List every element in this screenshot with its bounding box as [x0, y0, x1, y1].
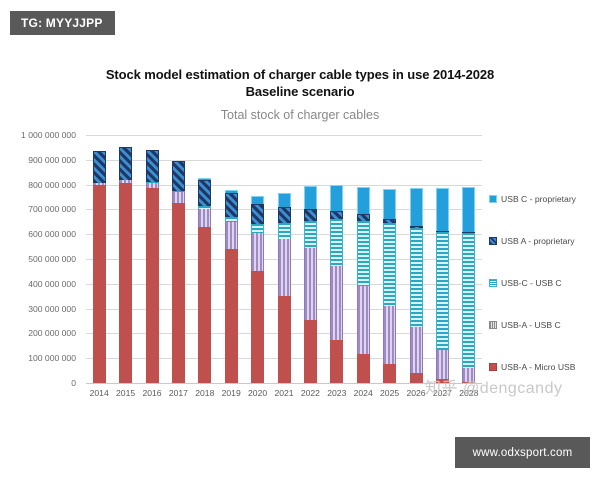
y-axis-tick-label: 0	[0, 378, 76, 388]
bar-segment[interactable]	[119, 183, 132, 383]
legend-item-4[interactable]: USB-A - Micro USB	[489, 361, 597, 372]
y-axis-tick-label: 600 000 000	[0, 229, 76, 239]
y-axis-tick-label: 900 000 000	[0, 155, 76, 165]
y-axis-tick-label: 800 000 000	[0, 180, 76, 190]
bar-segment[interactable]	[357, 221, 370, 287]
y-axis-tick-label: 100 000 000	[0, 353, 76, 363]
bar-segment[interactable]	[436, 232, 449, 350]
bar-segment[interactable]	[330, 211, 343, 220]
y-axis-tick-label: 300 000 000	[0, 304, 76, 314]
bar-segment[interactable]	[278, 239, 291, 296]
y-axis-tick-label: 400 000 000	[0, 279, 76, 289]
bar-segment[interactable]	[172, 161, 185, 191]
x-axis-tick-label: 2023	[327, 388, 346, 398]
bar-segment[interactable]	[119, 147, 132, 180]
bar-segment[interactable]	[410, 226, 423, 228]
bar-segment[interactable]	[383, 223, 396, 306]
bar-segment[interactable]	[172, 203, 185, 383]
legend-swatch-icon	[489, 237, 497, 245]
bar-segment[interactable]	[383, 219, 396, 223]
bar-segment[interactable]	[330, 185, 343, 211]
legend-item-2[interactable]: USB-C - USB C	[489, 277, 597, 288]
bar-segment[interactable]	[383, 306, 396, 364]
legend-swatch-icon	[489, 321, 497, 329]
y-axis-tick-label: 1 000 000 000	[0, 130, 76, 140]
bar-segment[interactable]	[304, 209, 317, 221]
bar-segment[interactable]	[410, 228, 423, 327]
bar-segment[interactable]	[278, 193, 291, 208]
bar-segment[interactable]	[462, 382, 475, 383]
bar-segment[interactable]	[330, 219, 343, 266]
legend-item-1[interactable]: USB A - proprietary	[489, 235, 597, 246]
bar-segment[interactable]	[330, 340, 343, 383]
bar-segment[interactable]	[330, 266, 343, 339]
bar-segment[interactable]	[436, 350, 449, 379]
bar-segment[interactable]	[304, 221, 317, 248]
bar-segment[interactable]	[93, 183, 106, 185]
x-axis-tick-label: 2014	[90, 388, 109, 398]
x-axis-tick-label: 2021	[274, 388, 293, 398]
bar-segment[interactable]	[410, 188, 423, 225]
y-axis-tick-label: 200 000 000	[0, 328, 76, 338]
x-axis-tick-label: 2018	[195, 388, 214, 398]
x-axis-tick-label: 2016	[142, 388, 161, 398]
legend-label: USB-A - Micro USB	[501, 362, 576, 372]
bar-segment[interactable]	[93, 151, 106, 182]
site-url-badge: www.odxsport.com	[455, 437, 590, 468]
bar-segment[interactable]	[410, 373, 423, 383]
legend-item-0[interactable]: USB C - proprietary	[489, 193, 597, 204]
bar-segment[interactable]	[462, 233, 475, 368]
bar-segment[interactable]	[304, 186, 317, 209]
x-axis-tick-label: 2015	[116, 388, 135, 398]
bar-segment[interactable]	[383, 364, 396, 383]
bar-segment[interactable]	[436, 379, 449, 383]
bar-segment[interactable]	[198, 206, 211, 208]
y-axis-tick-label: 700 000 000	[0, 204, 76, 214]
x-axis-tick-label: 2020	[248, 388, 267, 398]
bar-segment[interactable]	[251, 224, 264, 233]
bar-segment[interactable]	[251, 204, 264, 224]
bar-segment[interactable]	[357, 214, 370, 220]
bar-segment[interactable]	[304, 320, 317, 383]
gridline	[86, 135, 482, 136]
x-axis-tick-label: 2028	[459, 388, 478, 398]
gridline	[86, 383, 482, 384]
legend-item-3[interactable]: USB-A - USB C	[489, 319, 597, 330]
bar-segment[interactable]	[146, 150, 159, 182]
legend-label: USB A - proprietary	[501, 236, 575, 246]
bar-segment[interactable]	[383, 189, 396, 219]
x-axis-tick-label: 2027	[433, 388, 452, 398]
x-axis-tick-label: 2025	[380, 388, 399, 398]
legend-label: USB-A - USB C	[501, 320, 561, 330]
legend-swatch-icon	[489, 363, 497, 371]
legend-swatch-icon	[489, 195, 497, 203]
bar-segment[interactable]	[172, 192, 185, 203]
bar-segment[interactable]	[251, 196, 264, 205]
legend-label: USB C - proprietary	[501, 194, 576, 204]
x-axis-tick-label: 2019	[222, 388, 241, 398]
bar-segment[interactable]	[198, 180, 211, 207]
chart-legend: USB C - proprietaryUSB A - proprietaryUS…	[489, 193, 597, 403]
bar-segment[interactable]	[198, 227, 211, 383]
bar-segment[interactable]	[278, 296, 291, 383]
y-axis-tick-label: 500 000 000	[0, 254, 76, 264]
x-axis-tick-label: 2022	[301, 388, 320, 398]
bar-segment[interactable]	[357, 354, 370, 383]
bar-segment[interactable]	[278, 223, 291, 239]
bar-segment[interactable]	[251, 271, 264, 383]
legend-label: USB-C - USB C	[501, 278, 562, 288]
bar-segment[interactable]	[146, 183, 159, 188]
bar-segment[interactable]	[225, 249, 238, 383]
bar-segment[interactable]	[357, 187, 370, 215]
bar-segment[interactable]	[304, 248, 317, 320]
bar-segment[interactable]	[119, 180, 132, 183]
bar-segment[interactable]	[436, 231, 449, 232]
bar-segment[interactable]	[410, 327, 423, 373]
x-axis-tick-label: 2017	[169, 388, 188, 398]
bar-segment[interactable]	[436, 188, 449, 231]
bar-segment[interactable]	[278, 207, 291, 223]
bar-segment[interactable]	[251, 233, 264, 271]
legend-swatch-icon	[489, 279, 497, 287]
bar-segment[interactable]	[225, 193, 238, 217]
bar-segment[interactable]	[225, 222, 238, 249]
bar-segment[interactable]	[198, 209, 211, 227]
bar-segment[interactable]	[93, 185, 106, 383]
x-axis-tick-label: 2024	[354, 388, 373, 398]
bar-segment[interactable]	[225, 190, 238, 194]
bar-segment[interactable]	[462, 187, 475, 233]
bar-segment[interactable]	[172, 191, 185, 192]
bar-segment[interactable]	[462, 368, 475, 382]
bar-segment[interactable]	[357, 286, 370, 354]
bar-segment[interactable]	[146, 188, 159, 383]
bar-segment[interactable]	[198, 178, 211, 179]
plot-area	[86, 135, 482, 383]
x-axis-tick-label: 2026	[406, 388, 425, 398]
bar-segment[interactable]	[225, 217, 238, 222]
